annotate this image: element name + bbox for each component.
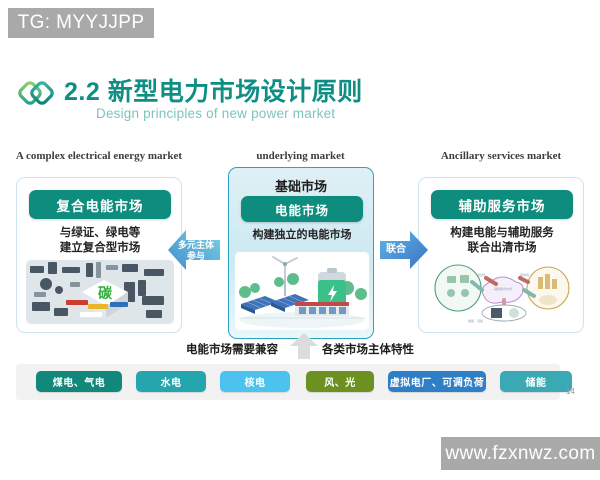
arrow-up-compatibility xyxy=(290,333,318,359)
card-left-description-line2: 建立复合型市场 xyxy=(60,242,141,254)
svg-text:需求侧: 需求侧 xyxy=(520,272,529,277)
bottom-label-right: 各类市场主体特性 xyxy=(322,341,414,357)
renewable-energy-illustration xyxy=(235,252,369,330)
card-right-description-line2: 联合出清市场 xyxy=(468,242,537,254)
double-diamond-logo-icon xyxy=(18,80,58,106)
slide-header: 2.2 新型电力市场设计原则 Design principles of new … xyxy=(18,74,578,130)
svg-text:储能、调频: 储能、调频 xyxy=(468,318,483,323)
arrow-left-label-line2: 参与 xyxy=(187,251,205,261)
card-left-description-line1: 与绿证、绿电等 xyxy=(60,227,141,239)
market-structure-diagram: 供给侧需求侧 辅助服务市场储能、调频 xyxy=(428,260,576,324)
arrow-left-multi-entity: 多元主体 参与 xyxy=(168,228,220,272)
card-right-description-line1: 构建电能与辅助服务 xyxy=(450,227,554,239)
card-left-pill-label: 复合电能市场 xyxy=(29,190,171,219)
page-subtitle: Design principles of new power market xyxy=(96,106,335,121)
card-left-description: 与绿证、绿电等 建立复合型市场 xyxy=(25,226,175,256)
card-ancillary-services-market[interactable]: 辅助服务市场 构建电能与辅助服务 联合出清市场 xyxy=(418,177,584,333)
card-complex-energy-market[interactable]: 复合电能市场 与绿证、绿电等 建立复合型市场 xyxy=(16,177,182,333)
bottom-label-left: 电能市场需要兼容 xyxy=(186,341,278,357)
card-middle-pill-label: 电能市场 xyxy=(241,196,363,222)
card-right-description: 构建电能与辅助服务 联合出清市场 xyxy=(427,226,577,256)
chip-5[interactable]: 储能 xyxy=(500,371,572,392)
watermark-bottom-right: www.fzxnwz.com xyxy=(441,437,600,470)
chip-0[interactable]: 煤电、气电 xyxy=(36,371,122,392)
svg-text:碳: 碳 xyxy=(98,285,113,302)
card-right-pill-label: 辅助服务市场 xyxy=(431,190,573,219)
card-underlying-market[interactable]: 基础市场 电能市场 构建独立的电能市场 xyxy=(228,167,374,339)
arrow-right-label: 联合 xyxy=(372,244,420,255)
page-number: 14 xyxy=(566,387,575,396)
svg-text:辅助服务市场: 辅助服务市场 xyxy=(494,286,512,291)
column-caption-left: A complex electrical energy market xyxy=(14,149,184,163)
chip-4[interactable]: 虚拟电厂、可调负荷 xyxy=(388,371,486,392)
arrow-left-label: 多元主体 参与 xyxy=(170,240,222,262)
watermark-top-left: TG: MYYJJPP xyxy=(8,8,154,38)
column-caption-middle: underlying market xyxy=(228,149,373,163)
chip-1[interactable]: 水电 xyxy=(136,371,206,392)
chip-3[interactable]: 风、光 xyxy=(306,371,374,392)
arrow-left-label-line1: 多元主体 xyxy=(178,240,214,250)
carbon-cube-photo: 碳 xyxy=(26,260,174,324)
card-middle-heading: 基础市场 xyxy=(229,176,373,195)
card-middle-description: 构建独立的电能市场 xyxy=(235,228,369,243)
chip-2[interactable]: 核电 xyxy=(220,371,290,392)
svg-text:供给侧: 供给侧 xyxy=(476,272,485,277)
arrow-right-joint: 联合 xyxy=(380,230,428,270)
page-title: 2.2 新型电力市场设计原则 xyxy=(64,72,363,108)
column-caption-right: Ancillary services market xyxy=(416,149,586,163)
slide-canvas: TG: MYYJJPP 2.2 新型电 xyxy=(0,0,600,480)
